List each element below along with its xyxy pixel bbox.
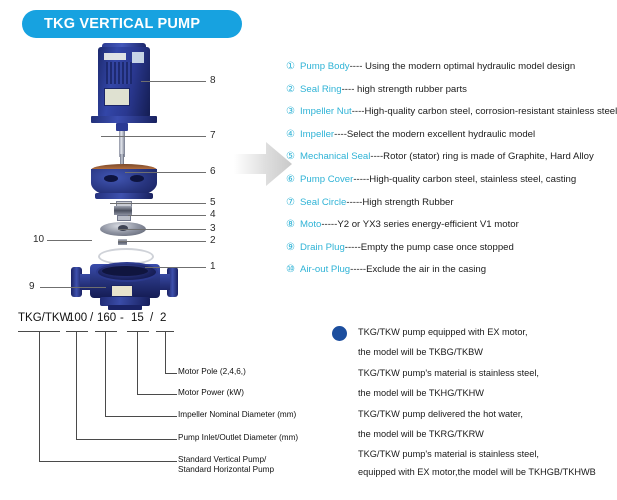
part-number: ① (286, 60, 300, 73)
leader-v-series (39, 331, 40, 461)
motor-hub (116, 123, 128, 131)
mechanical-seal-body (114, 206, 132, 215)
callout-number-9: 9 (29, 281, 35, 292)
pump-body-nameplate (111, 285, 133, 297)
label-impeller-diameter: Impeller Nominal Diameter (mm) (178, 410, 296, 421)
leader-h-impeller (105, 416, 177, 417)
code-separator-1: / (90, 312, 93, 324)
callout-line-8 (141, 81, 206, 82)
motor-nameplate-side (132, 52, 144, 63)
callout-line-9 (40, 287, 106, 288)
motor-flange (91, 116, 157, 123)
label-standard-horizontal-pump: Standard Horizontal Pump (178, 465, 274, 476)
model-code-breakdown: TKG/TKW 100 160 15 2 / - / Motor Pole (2… (0, 312, 340, 497)
callout-number-6: 6 (210, 166, 216, 177)
list-item: ⑨ Drain Plug -----Empty the pump case on… (286, 241, 614, 264)
callout-line-10 (47, 240, 92, 241)
callout-number-2: 2 (210, 235, 216, 246)
motor-cooling-fins (106, 62, 132, 84)
part-number: ② (286, 83, 300, 96)
part-number: ⑥ (286, 173, 300, 186)
part-description: -----High-quality carbon steel, stainles… (353, 173, 576, 186)
part-description: -----Y2 or YX3 series energy-efficient V… (321, 218, 518, 231)
callout-line-7 (101, 136, 206, 137)
code-token-inlet: 100 (68, 312, 87, 324)
part-number: ⑤ (286, 150, 300, 163)
part-number: ③ (286, 105, 300, 118)
callout-line-1 (145, 267, 206, 268)
leader-v-inlet (76, 331, 77, 439)
callout-line-4 (128, 215, 206, 216)
part-name-label: Impeller Nut (300, 105, 352, 118)
part-name-label: Impeller (300, 128, 334, 141)
callout-number-8: 8 (210, 75, 216, 86)
part-description: -----High strength Rubber (346, 196, 453, 209)
list-item: ⑥ Pump Cover -----High-quality carbon st… (286, 173, 614, 196)
list-item: ③ Impeller Nut ----High-quality carbon s… (286, 105, 614, 128)
part-number: ⑨ (286, 241, 300, 254)
leader-h-power (137, 394, 177, 395)
pump-cover-window-right (130, 175, 144, 182)
motor-terminal-box (104, 88, 130, 106)
label-motor-pole: Motor Pole (2,4,6,) (178, 367, 246, 378)
part-number: ⑩ (286, 263, 300, 276)
variant-line: TKG/TKW pump's material is stainless ste… (332, 444, 612, 464)
code-token-impeller: 160 (97, 312, 116, 324)
impeller-nut (118, 239, 127, 245)
part-name-label: Seal Ring (300, 83, 342, 96)
part-description: ----Rotor (stator) ring is made of Graph… (370, 150, 593, 163)
callout-line-3 (118, 229, 206, 230)
variant-line: TKG/TKW pump equipped with EX motor, (332, 322, 612, 342)
page-title: TKG VERTICAL PUMP (22, 16, 200, 32)
shaft-tip (120, 154, 124, 164)
list-item: ⑦ Seal Circle -----High strength Rubber (286, 196, 614, 219)
leader-h-series (39, 461, 177, 462)
model-variants-block: TKG/TKW pump equipped with EX motor, the… (332, 322, 612, 479)
part-description: ----High-quality carbon steel, corrosion… (352, 105, 617, 118)
bullet-dot-icon (332, 326, 347, 341)
label-standard-vertical-pump: Standard Vertical Pump/ (178, 455, 266, 466)
parts-legend-list: ① Pump Body ---- Using the modern optima… (286, 60, 614, 286)
flow-arrow-icon (234, 140, 292, 188)
pump-cover-base (95, 193, 153, 199)
part-name-label: Pump Cover (300, 173, 353, 186)
code-underline-impeller (95, 331, 117, 332)
variant-line: the model will be TKBG/TKBW (332, 342, 612, 362)
callout-number-1: 1 (210, 261, 216, 272)
callout-line-5 (110, 203, 206, 204)
leader-v-power (137, 331, 138, 394)
code-separator-3: / (150, 312, 153, 324)
leader-v-pole (165, 331, 166, 373)
part-number: ④ (286, 128, 300, 141)
leader-v-impeller (105, 331, 106, 416)
label-inlet-outlet-diameter: Pump Inlet/Outlet Diameter (mm) (178, 433, 298, 444)
code-underline-inlet (66, 331, 88, 332)
variant-line: the model will be TKHG/TKHW (332, 383, 612, 403)
callout-number-4: 4 (210, 209, 216, 220)
list-item: ① Pump Body ---- Using the modern optima… (286, 60, 614, 83)
callout-number-7: 7 (210, 130, 216, 141)
part-name-label: Mechanical Seal (300, 150, 370, 163)
code-token-power: 15 (131, 312, 144, 324)
list-item: ② Seal Ring ---- high strength rubber pa… (286, 83, 614, 106)
part-description: ----Select the modern excellent hydrauli… (334, 128, 535, 141)
callout-number-3: 3 (210, 223, 216, 234)
list-item: ⑤ Mechanical Seal ----Rotor (stator) rin… (286, 150, 614, 173)
leader-h-pole (165, 373, 177, 374)
pump-body-bore (102, 266, 148, 276)
pump-cover-window-left (104, 175, 118, 182)
motor-nameplate-upper (104, 53, 126, 60)
variant-line: TKG/TKW pump delivered the hot water, (332, 404, 612, 424)
callout-number-10: 10 (33, 234, 44, 245)
part-name-label: Drain Plug (300, 241, 345, 254)
part-name-label: Air-out Plug (300, 263, 350, 276)
callout-line-6 (125, 172, 206, 173)
leader-h-inlet (76, 439, 177, 440)
code-separator-2: - (120, 312, 124, 324)
part-description: ---- Using the modern optimal hydraulic … (350, 60, 576, 73)
callout-line-2 (118, 241, 206, 242)
list-item: ⑧ Moto -----Y2 or YX3 series energy-effi… (286, 218, 614, 241)
code-underline-power (127, 331, 149, 332)
part-name-label: Moto (300, 218, 321, 231)
variant-line: equipped with EX motor,the model will be… (332, 465, 612, 479)
pump-base-pad (108, 305, 142, 310)
list-item: ④ Impeller ----Select the modern excelle… (286, 128, 614, 151)
part-name-label: Seal Circle (300, 196, 346, 209)
code-token-series: TKG/TKW (18, 312, 70, 324)
page-title-banner: TKG VERTICAL PUMP (22, 10, 242, 38)
part-description: -----Exclude the air in the casing (350, 263, 486, 276)
part-number: ⑧ (286, 218, 300, 231)
impeller-hub (118, 225, 128, 231)
variant-line: the model will be TKRG/TKRW (332, 424, 612, 444)
part-description: -----Empty the pump case once stopped (345, 241, 514, 254)
part-name-label: Pump Body (300, 60, 350, 73)
label-motor-power: Motor Power (kW) (178, 388, 244, 399)
part-description: ---- high strength rubber parts (342, 83, 467, 96)
code-token-pole: 2 (160, 312, 166, 324)
part-number: ⑦ (286, 196, 300, 209)
callout-number-5: 5 (210, 197, 216, 208)
list-item: ⑩ Air-out Plug -----Exclude the air in t… (286, 263, 614, 286)
variant-line: TKG/TKW pump's material is stainless ste… (332, 363, 612, 383)
